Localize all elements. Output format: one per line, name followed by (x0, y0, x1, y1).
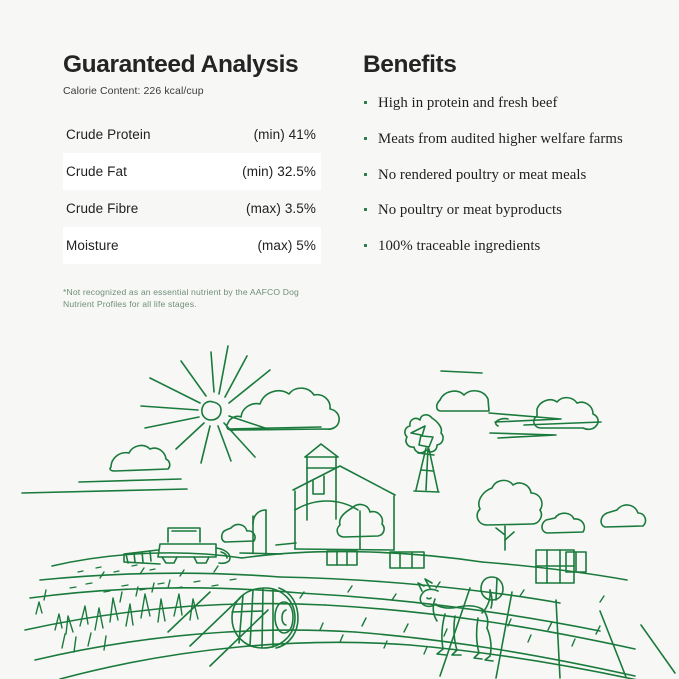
bullet-icon (364, 208, 367, 211)
bullet-icon (364, 137, 367, 140)
square-hay-bales (327, 550, 586, 600)
benefit-text: Meats from audited higher welfare farms (378, 131, 623, 147)
farm-scene-svg (0, 330, 679, 679)
nutrient-label: Crude Fat (66, 153, 127, 190)
list-item: No rendered poultry or meat meals (363, 166, 623, 186)
field-contours (25, 552, 675, 679)
list-item: No poultry or meat byproducts (363, 201, 623, 221)
table-row: Crude Fibre (max) 3.5% (63, 190, 321, 227)
benefit-text: 100% traceable ingredients (378, 238, 540, 254)
benefits-list: High in protein and fresh beef Meats fro… (363, 94, 623, 256)
benefits-section: Benefits High in protein and fresh beef … (363, 52, 623, 273)
round-hay-bale-large (232, 588, 298, 648)
list-item: Meats from audited higher welfare farms (363, 130, 623, 150)
farm-scene-illustration (0, 330, 679, 679)
nutrient-value: (min) 41% (254, 116, 316, 153)
outbuilding-shape (240, 510, 282, 554)
table-row: Crude Protein (min) 41% (63, 116, 321, 153)
guaranteed-analysis-table: Crude Protein (min) 41% Crude Fat (min) … (63, 116, 321, 264)
aafco-footnote: *Not recognized as an essential nutrient… (63, 286, 313, 310)
benefit-text: No rendered poultry or meat meals (378, 167, 586, 183)
table-row: Crude Fat (min) 32.5% (63, 153, 321, 190)
calorie-content-text: Calorie Content: 226 kcal/cup (63, 85, 321, 98)
bullet-icon (364, 244, 367, 247)
nutrient-label: Crude Fibre (66, 190, 138, 227)
benefits-title: Benefits (363, 52, 623, 78)
bullet-icon (364, 173, 367, 176)
windmill-icon (405, 415, 443, 492)
combine-harvester-shape (124, 528, 230, 564)
nutrient-label: Crude Protein (66, 116, 151, 153)
benefit-text: High in protein and fresh beef (378, 95, 557, 111)
cloud-icons (22, 371, 601, 493)
nutrient-value: (min) 32.5% (242, 153, 316, 190)
table-row: Moisture (max) 5% (63, 227, 321, 264)
product-info-panel: Guaranteed Analysis Calorie Content: 226… (0, 0, 679, 679)
grass-strokes (36, 566, 604, 654)
guaranteed-analysis-title: Guaranteed Analysis (63, 52, 321, 78)
list-item: High in protein and fresh beef (363, 94, 623, 114)
guaranteed-analysis-section: Guaranteed Analysis Calorie Content: 226… (63, 52, 321, 319)
tree-shapes (222, 480, 646, 550)
nutrient-label: Moisture (66, 227, 119, 264)
nutrient-value: (max) 3.5% (246, 190, 316, 227)
benefit-text: No poultry or meat byproducts (378, 202, 562, 218)
bullet-icon (364, 101, 367, 104)
list-item: 100% traceable ingredients (363, 237, 623, 257)
nutrient-value: (max) 5% (257, 227, 316, 264)
